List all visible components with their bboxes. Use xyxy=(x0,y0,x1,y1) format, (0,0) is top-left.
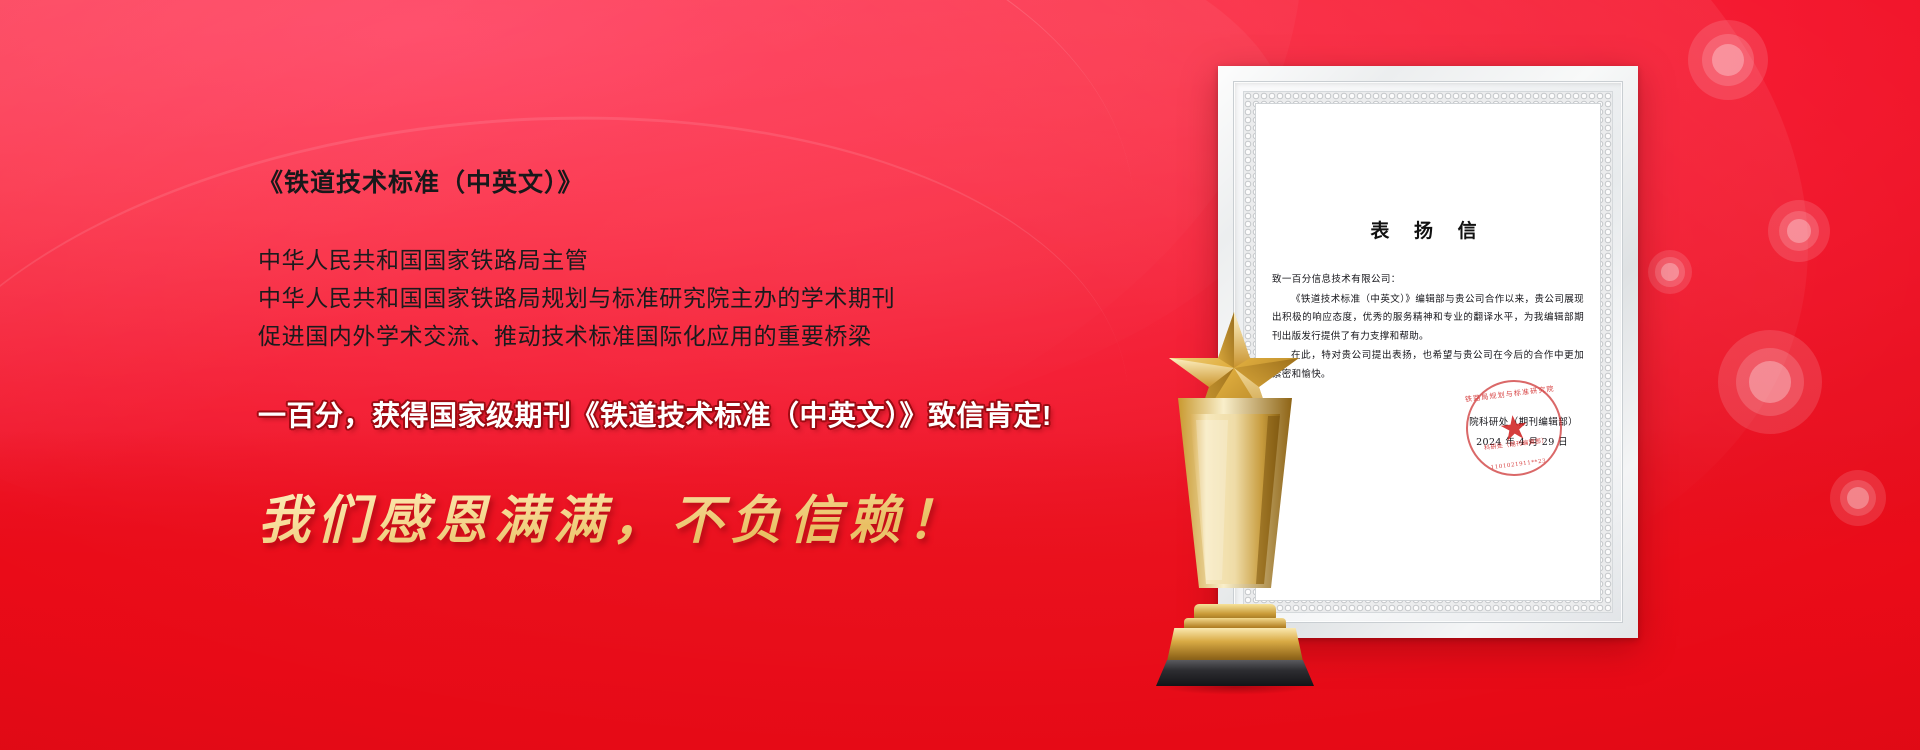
bubble-decor-2 xyxy=(1768,200,1830,262)
subtitle-list: 中华人民共和国国家铁路局主管 中华人民共和国国家铁路局规划与标准研究院主办的学术… xyxy=(258,241,1258,356)
calligraphy-slogan: 我们感恩满满，不负信赖！ xyxy=(258,478,1258,553)
copy-block: 《铁道技术标准（中英文）》 中华人民共和国国家铁路局主管 中华人民共和国国家铁路… xyxy=(258,168,1258,553)
bubble-decor-4 xyxy=(1718,330,1822,434)
seal-top-text: 铁路局规划与标准研究院 xyxy=(1464,384,1557,405)
subtitle-line-1: 中华人民共和国国家铁路局主管 xyxy=(258,241,1258,279)
certificate-title: 表 扬 信 xyxy=(1272,216,1584,243)
subtitle-line-2: 中华人民共和国国家铁路局规划与标准研究院主办的学术期刊 xyxy=(258,279,1258,317)
seal-mid-text: 科研处（期刊编辑部） xyxy=(1470,433,1562,453)
banner-stage: 《铁道技术标准（中英文）》 中华人民共和国国家铁路局主管 中华人民共和国国家铁路… xyxy=(0,0,1920,750)
trophy xyxy=(1140,308,1330,680)
trophy-cup xyxy=(1176,392,1294,610)
certificate-salutation: 致一百分信息技术有限公司： xyxy=(1272,271,1584,290)
bubble-decor-3 xyxy=(1648,250,1692,294)
bubble-ring-inner xyxy=(1661,263,1679,281)
trophy-plinth xyxy=(1156,660,1314,686)
headline: 一百分，获得国家级期刊《铁道技术标准（中英文）》致信肯定! xyxy=(258,394,1258,434)
journal-title: 《铁道技术标准（中英文）》 xyxy=(258,168,1258,198)
official-seal-icon: 铁路局规划与标准研究院 科研处（期刊编辑部） 1101021911**23 xyxy=(1461,375,1568,482)
seal-bottom-text: 1101021911**23 xyxy=(1472,456,1564,473)
subtitle-line-3: 促进国内外学术交流、推动技术标准国际化应用的重要桥梁 xyxy=(258,317,1258,355)
bubble-ring-inner xyxy=(1749,361,1791,403)
bubble-ring-inner xyxy=(1712,44,1744,76)
bubble-decor-1 xyxy=(1688,20,1768,100)
bubble-decor-5 xyxy=(1830,470,1886,526)
